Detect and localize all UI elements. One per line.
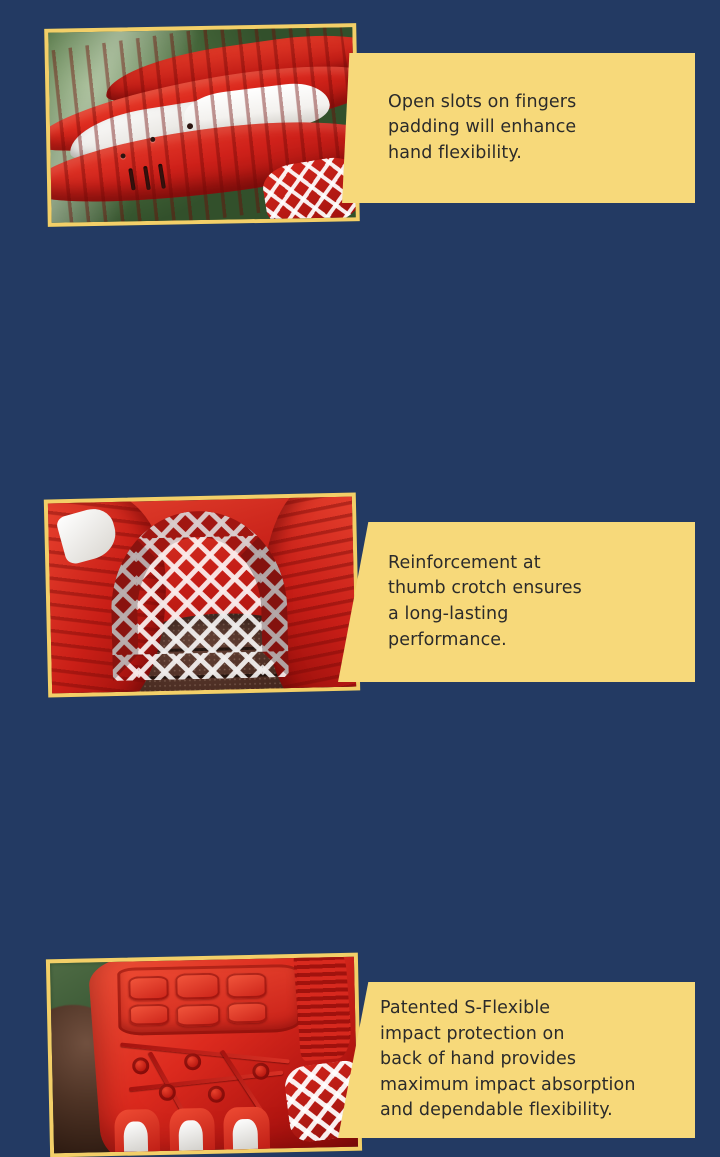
finger-tip-white xyxy=(178,1120,203,1154)
padding-slot-hole xyxy=(187,123,193,129)
knuckle-cell xyxy=(128,976,169,1000)
finger-tip-white xyxy=(123,1121,148,1153)
web-node xyxy=(208,1086,225,1103)
knuckle-armor-pad xyxy=(117,964,301,1036)
feature-photo-s-flexible-impact-protection xyxy=(46,953,362,1157)
padding-slot-hole xyxy=(120,153,125,158)
web-node xyxy=(159,1083,176,1100)
web-node xyxy=(252,1063,269,1080)
feature-caption: Patented S-Flexible impact protection on… xyxy=(330,996,642,1124)
knuckle-cell xyxy=(227,973,268,998)
knuckle-cell xyxy=(175,972,219,999)
photo-content xyxy=(50,957,358,1154)
web-node xyxy=(184,1053,201,1070)
wrist-cuff-ribbing xyxy=(293,957,353,1062)
web-node xyxy=(132,1057,149,1074)
product-feature-infographic: Open slots on fingers padding will enhan… xyxy=(0,0,720,720)
feature-row-open-slots-fingers: Open slots on fingers padding will enhan… xyxy=(0,0,720,240)
feature-row-thumb-crotch-reinforcement: Reinforcement at thumb crotch ensures a … xyxy=(0,240,720,470)
finger-tip-white xyxy=(233,1118,258,1153)
knuckle-cell xyxy=(227,1001,268,1024)
feature-row-s-flexible-impact-protection: Patented S-Flexible impact protection on… xyxy=(0,470,720,720)
knuckle-cell xyxy=(176,1004,220,1027)
s-flexible-web-structure xyxy=(112,1034,302,1122)
photo-content xyxy=(48,27,355,223)
knuckle-cell xyxy=(129,1003,170,1026)
feature-photo-open-slots-fingers xyxy=(44,23,360,227)
feature-text-panel-open-slots-fingers: Open slots on fingers padding will enhan… xyxy=(330,53,695,203)
feature-text-panel-s-flexible-impact-protection: Patented S-Flexible impact protection on… xyxy=(330,982,695,1138)
feature-caption: Open slots on fingers padding will enhan… xyxy=(330,90,586,167)
